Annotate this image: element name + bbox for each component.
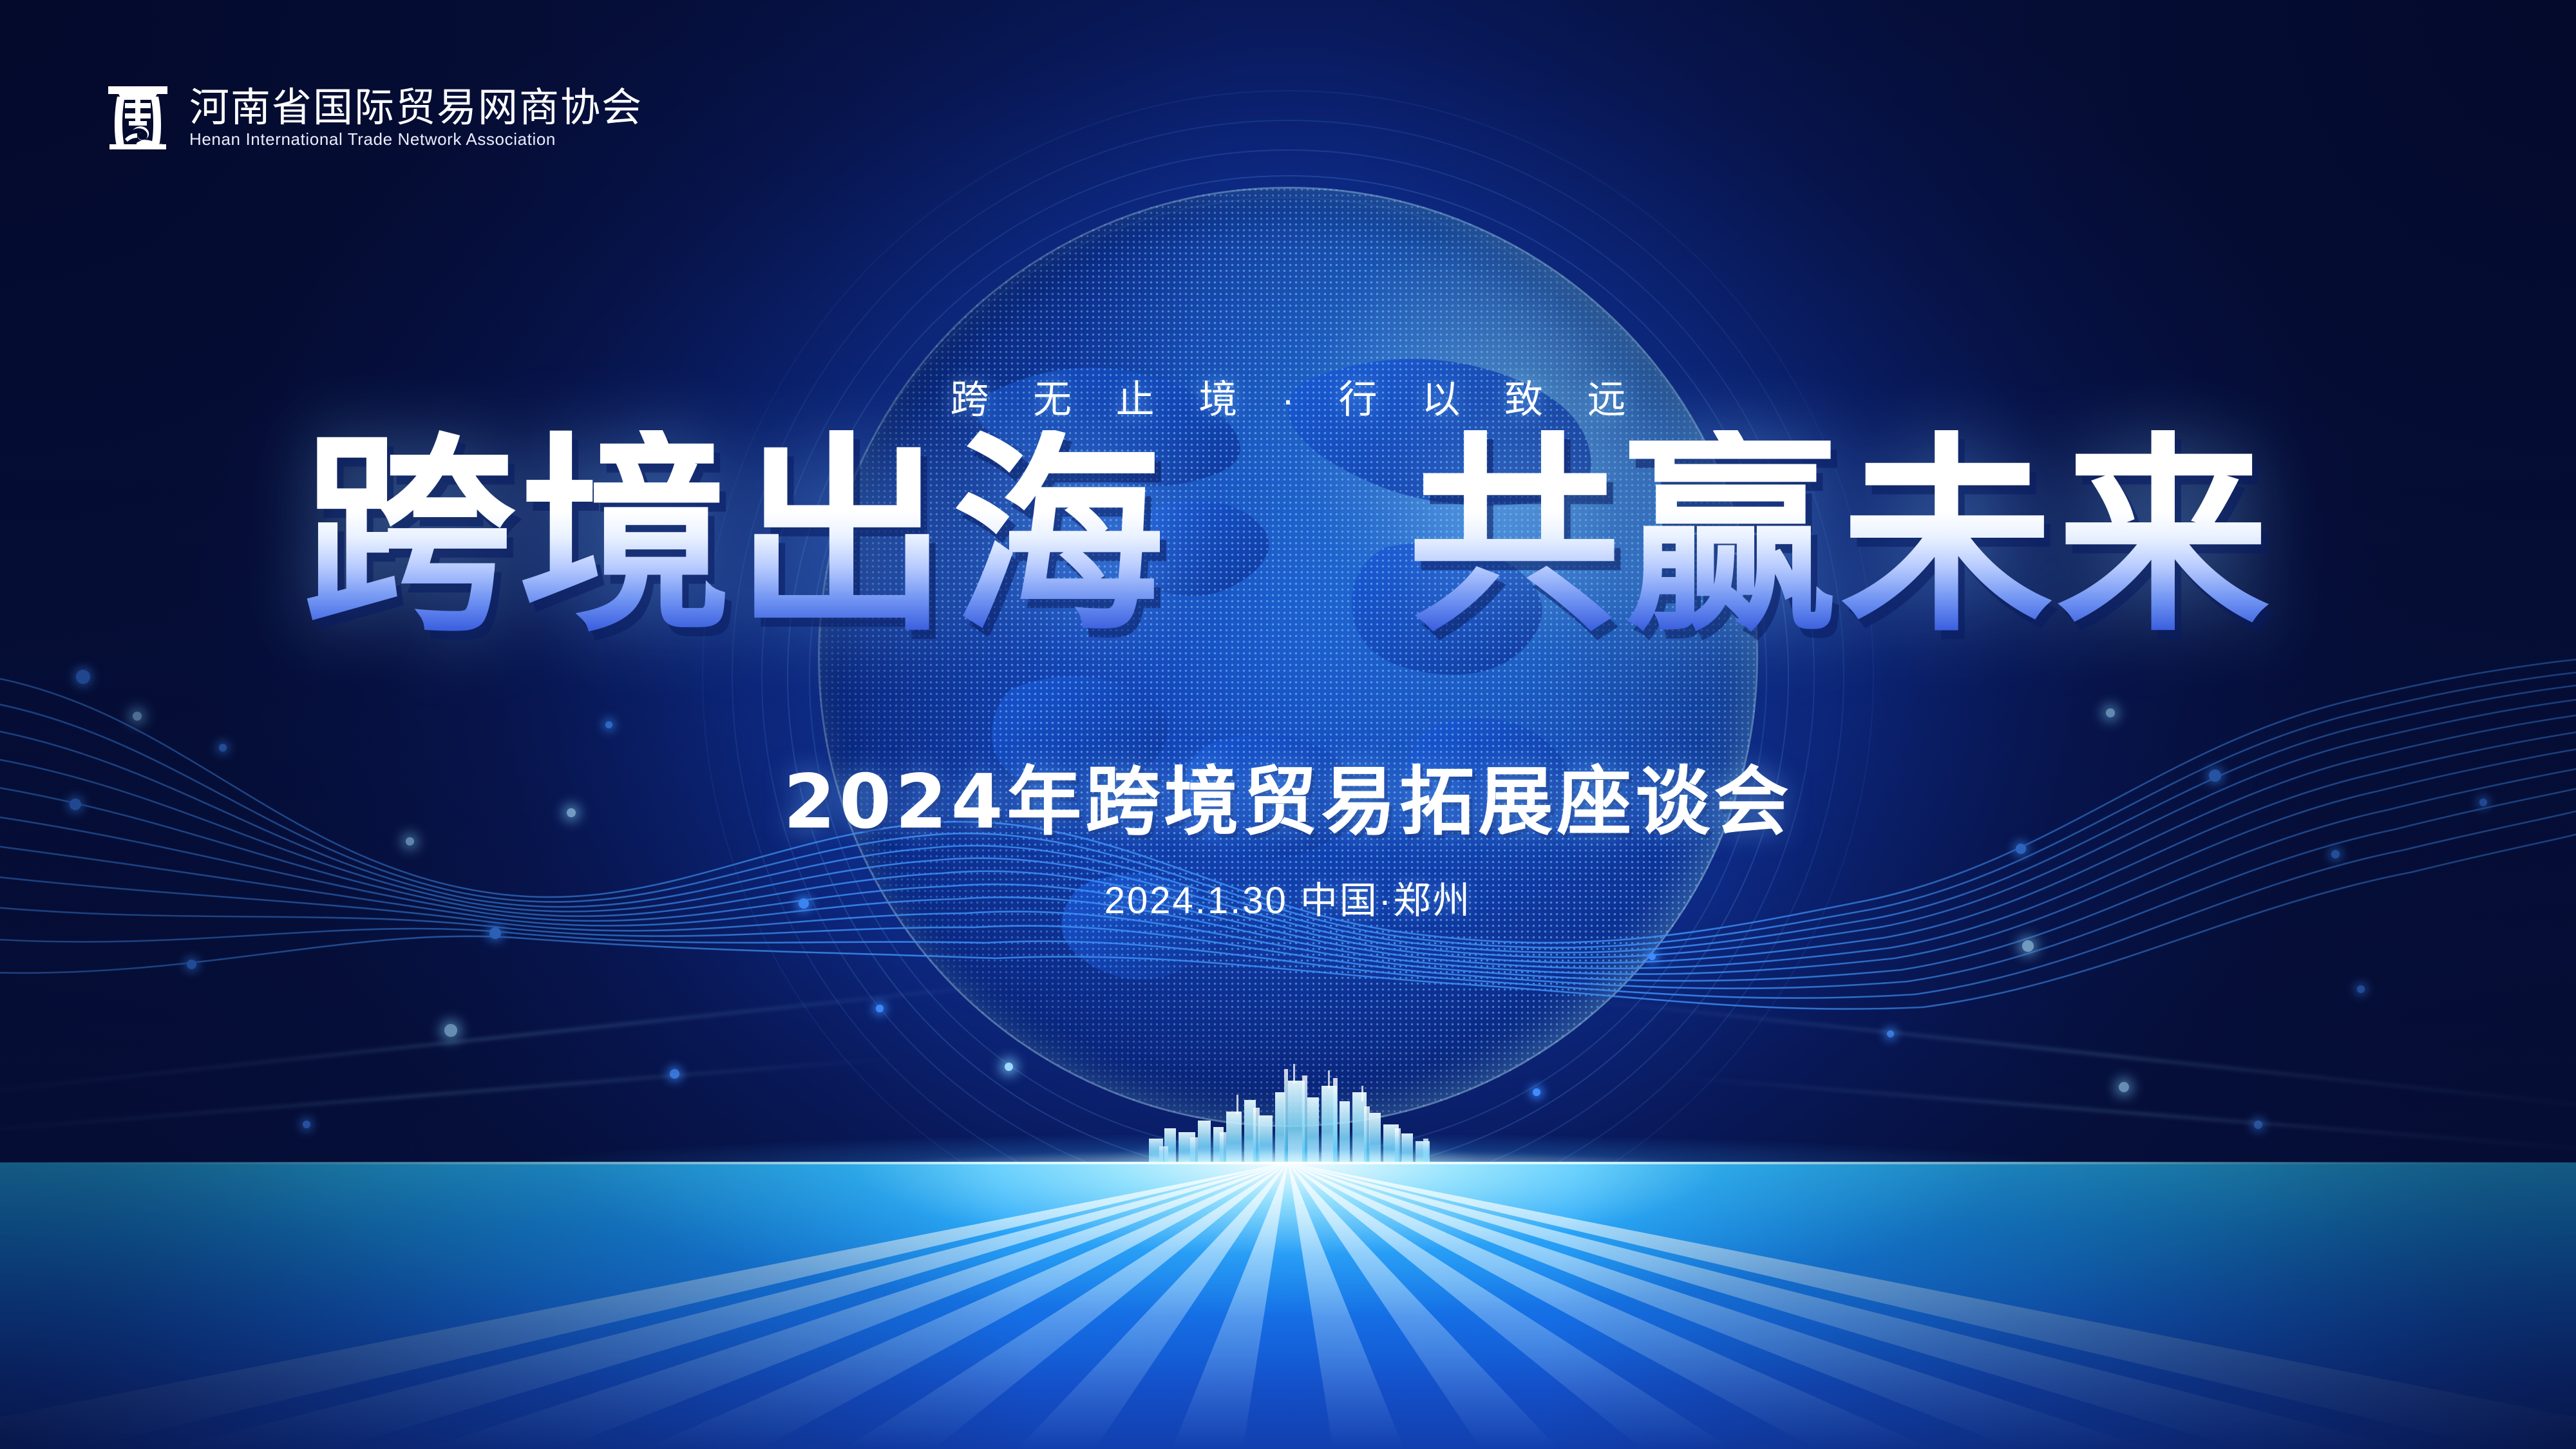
brand-name-cn: 河南省国际贸易网商协会 <box>189 88 643 128</box>
hero-headline: 跨境出海 共赢未来 <box>0 430 2576 643</box>
headline-part-2: 共赢未来 <box>1408 430 2273 643</box>
poster-canvas: 河南省国际贸易网商协会 Henan International Trade Ne… <box>0 0 2576 1449</box>
brand-logo[interactable]: 河南省国际贸易网商协会 Henan International Trade Ne… <box>103 82 643 153</box>
headline-part-1: 跨境出海 <box>303 430 1168 643</box>
hero-subtitle: 2024年跨境贸易拓展座谈会 <box>0 765 2576 840</box>
hero-meta: 2024.1.30 中国·郑州 <box>0 882 2576 920</box>
light-floor <box>0 1162 2576 1449</box>
henan-trade-seal-emblem-icon <box>103 82 173 153</box>
horizon-line <box>0 1162 2576 1164</box>
radiating-rays-icon <box>0 1162 2576 1449</box>
brand-name-en: Henan International Trade Network Associ… <box>189 131 643 147</box>
